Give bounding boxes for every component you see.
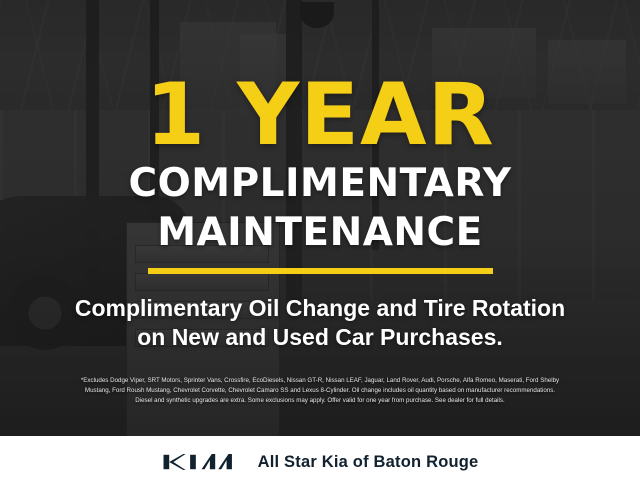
headline-1-year: 1 YEAR [145,76,495,155]
promotional-banner: 1 YEAR COMPLIMENTARY MAINTENANCE Complim… [0,0,640,488]
subhead-complimentary: COMPLIMENTARY [128,163,511,204]
subhead-maintenance: MAINTENANCE [157,212,483,253]
hero-content: 1 YEAR COMPLIMENTARY MAINTENANCE Complim… [0,0,640,436]
dealer-name: All Star Kia of Baton Rouge [258,453,479,472]
disclaimer-line-2: Mustang, Ford Roush Mustang, Chevrolet C… [12,386,628,396]
footer-bar: All Star Kia of Baton Rouge [0,436,640,488]
yellow-divider-rule [148,268,493,274]
disclaimer-line-3: Diesel and synthetic upgrades are extra.… [12,396,628,406]
disclaimer-text: *Excludes Dodge Viper, SRT Motors, Sprin… [12,376,628,406]
tagline-line-1: Complimentary Oil Change and Tire Rotati… [75,294,565,323]
kia-logo-icon [162,450,238,474]
hero-section: 1 YEAR COMPLIMENTARY MAINTENANCE Complim… [0,0,640,436]
tagline-line-2: on New and Used Car Purchases. [137,323,503,352]
disclaimer-line-1: *Excludes Dodge Viper, SRT Motors, Sprin… [12,376,628,386]
